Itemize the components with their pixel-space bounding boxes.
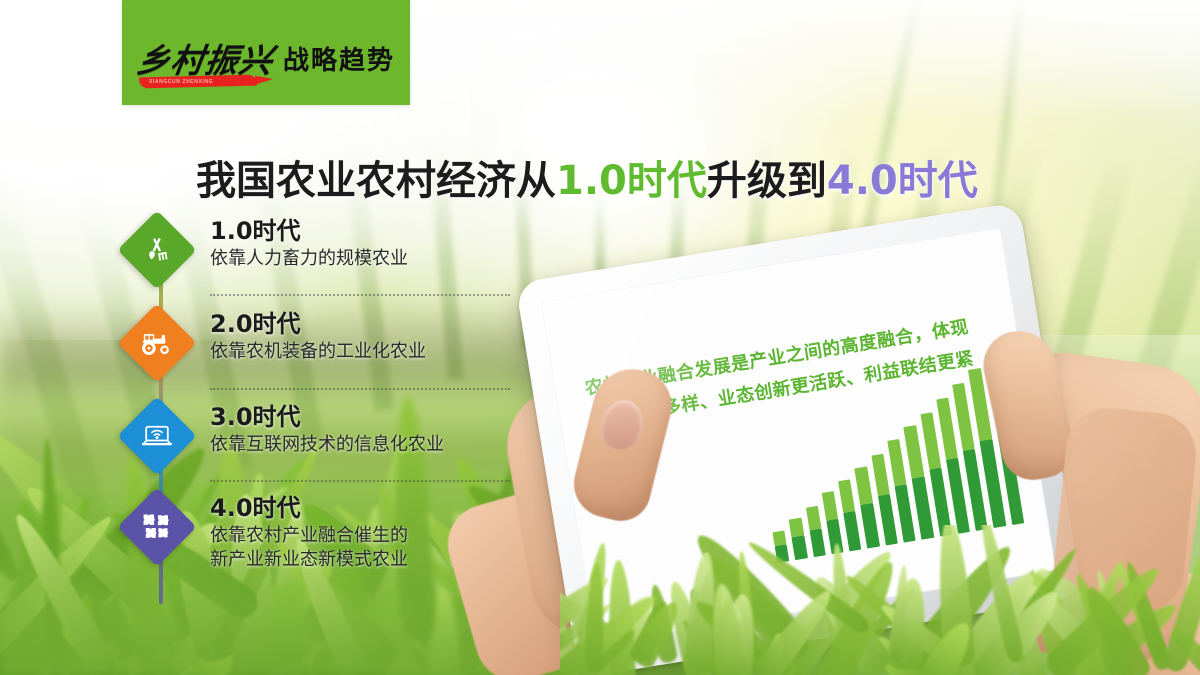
laptop-wifi-icon	[141, 423, 173, 449]
logo-calligraphy-group: 乡村振兴 XIANGCUN ZHENXING	[137, 44, 273, 77]
logo-subtitle: 战略趋势	[283, 40, 395, 77]
tractor-icon	[141, 329, 173, 357]
slide-canvas: 乡村振兴 XIANGCUN ZHENXING 战略趋势 我国农业农村经济从1.0…	[0, 0, 1200, 675]
foreground-plants	[560, 525, 1200, 675]
chart-bar-top	[838, 480, 855, 513]
title-part2: 升级到	[707, 158, 827, 204]
chart-bar-top	[822, 491, 839, 520]
title-highlight-4-0: 4.0时代	[827, 158, 978, 204]
timeline-divider-1	[210, 294, 510, 296]
chart-bar-top	[936, 398, 958, 460]
timeline-text-2: 2.0时代 依靠农机装备的工业化农业	[210, 311, 542, 364]
chart-bar-top	[920, 413, 941, 470]
chart-bar-top	[855, 467, 873, 505]
timeline-divider-3	[210, 480, 510, 482]
title-part1: 我国农业农村经济从	[196, 158, 556, 204]
timeline-era-label-2: 2.0时代	[210, 311, 542, 338]
logo-pinyin-text: XIANGCUN ZHENXING	[149, 79, 213, 85]
title-highlight-1-0: 1.0时代	[556, 158, 707, 204]
timeline-text-3: 3.0时代 依靠互联网技术的信息化农业	[210, 404, 542, 457]
timeline-era-label-1: 1.0时代	[210, 218, 542, 245]
chart-bar-top	[904, 426, 924, 478]
chart-bar-top	[887, 439, 907, 487]
shovel-pitchfork-icon	[142, 235, 172, 265]
puzzle-pieces-icon	[141, 512, 173, 542]
chart-bar-top	[871, 454, 890, 496]
timeline-desc-1: 依靠人力畜力的规模农业	[210, 247, 542, 271]
logo-banner: 乡村振兴 XIANGCUN ZHENXING 战略趋势	[122, 0, 410, 105]
timeline-text-1: 1.0时代 依靠人力畜力的规模农业	[210, 218, 542, 271]
logo-calligraphy-text: 乡村振兴	[135, 44, 276, 77]
timeline-desc-2: 依靠农机装备的工业化农业	[210, 340, 542, 364]
page-title: 我国农业农村经济从1.0时代升级到4.0时代	[196, 148, 978, 206]
timeline-era-label-3: 3.0时代	[210, 404, 542, 431]
timeline-divider-2	[210, 388, 510, 390]
timeline-desc-3: 依靠互联网技术的信息化农业	[210, 433, 542, 457]
